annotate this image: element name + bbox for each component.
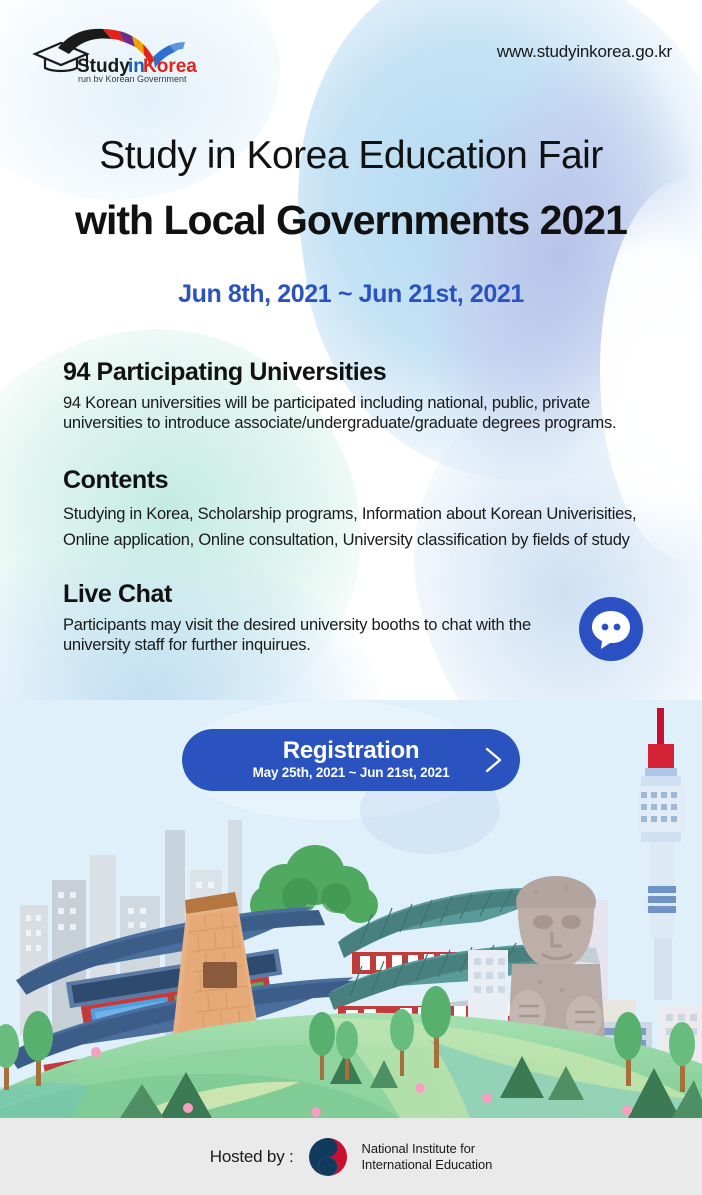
section-livechat-body: Participants may visit the desired unive… [63,615,533,655]
studyinkorea-logo[interactable]: Study in Korea run by Korean Government [25,26,200,82]
poster-canvas: Study in Korea run by Korean Government … [0,0,702,1118]
registration-label: Registration [283,738,419,764]
organization-name: National Institute for International Edu… [362,1141,493,1173]
section-universities: 94 Participating Universities 94 Korean … [63,358,663,433]
event-dates: Jun 8th, 2021 ~ Jun 21st, 2021 [0,280,702,309]
section-livechat-heading: Live Chat [63,580,663,609]
website-url[interactable]: www.studyinkorea.go.kr [497,42,672,62]
chevron-right-icon[interactable] [481,745,507,775]
niied-taegeuk-logo [307,1136,349,1178]
organization-line-2: International Education [362,1157,493,1172]
title-line-2: with Local Governments 2021 [0,188,702,252]
section-contents-heading: Contents [63,466,663,495]
section-contents-body-line-1: Studying in Korea, Scholarship programs,… [63,501,663,527]
footer: Hosted by : National Institute for Inter… [0,1118,702,1195]
title-line-1: Study in Korea Education Fair [0,124,702,188]
page-title: Study in Korea Education Fair with Local… [0,124,702,252]
section-universities-heading: 94 Participating Universities [63,358,663,387]
chat-bubble-icon[interactable] [578,596,644,662]
section-universities-body: 94 Korean universities will be participa… [63,393,663,433]
hosted-by-label: Hosted by : [210,1147,294,1167]
section-livechat: Live Chat Participants may visit the des… [63,580,663,655]
registration-button[interactable]: Registration May 25th, 2021 ~ Jun 21st, … [182,729,520,791]
registration-period: May 25th, 2021 ~ Jun 21st, 2021 [253,764,450,782]
section-contents: Contents Studying in Korea, Scholarship … [63,466,663,553]
organization-line-1: National Institute for [362,1141,475,1156]
section-contents-body-line-2: Online application, Online consultation,… [63,527,663,553]
logo-tagline: run by Korean Government [78,74,187,82]
